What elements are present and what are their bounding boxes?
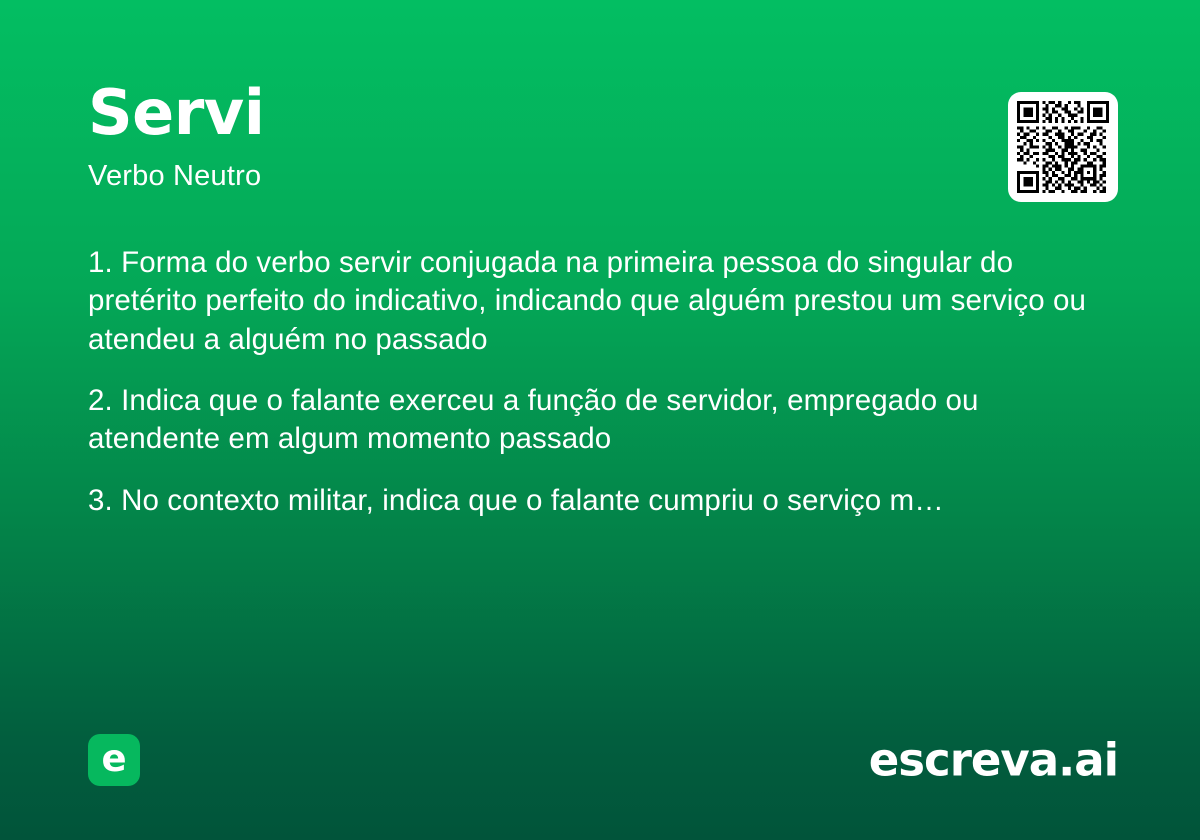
qr-code-icon[interactable] bbox=[1008, 92, 1118, 202]
dictionary-card: Servi Verbo Neutro bbox=[0, 0, 1200, 840]
definitions-list: 1. Forma do verbo servir conjugada na pr… bbox=[88, 244, 1112, 520]
definition-item: 2. Indica que o falante exerceu a função… bbox=[88, 382, 1112, 459]
definition-item: 1. Forma do verbo servir conjugada na pr… bbox=[88, 244, 1112, 359]
card-footer: e escreva.ai bbox=[88, 734, 1118, 786]
word-title: Servi bbox=[88, 82, 1112, 144]
brand-name: escreva.ai bbox=[869, 738, 1118, 783]
brand-logo-letter: e bbox=[101, 740, 126, 777]
card-header: Servi Verbo Neutro bbox=[88, 82, 1112, 191]
word-class-label: Verbo Neutro bbox=[88, 144, 1112, 191]
definition-item: 3. No contexto militar, indica que o fal… bbox=[88, 482, 1112, 520]
brand-logo-icon: e bbox=[88, 734, 140, 786]
